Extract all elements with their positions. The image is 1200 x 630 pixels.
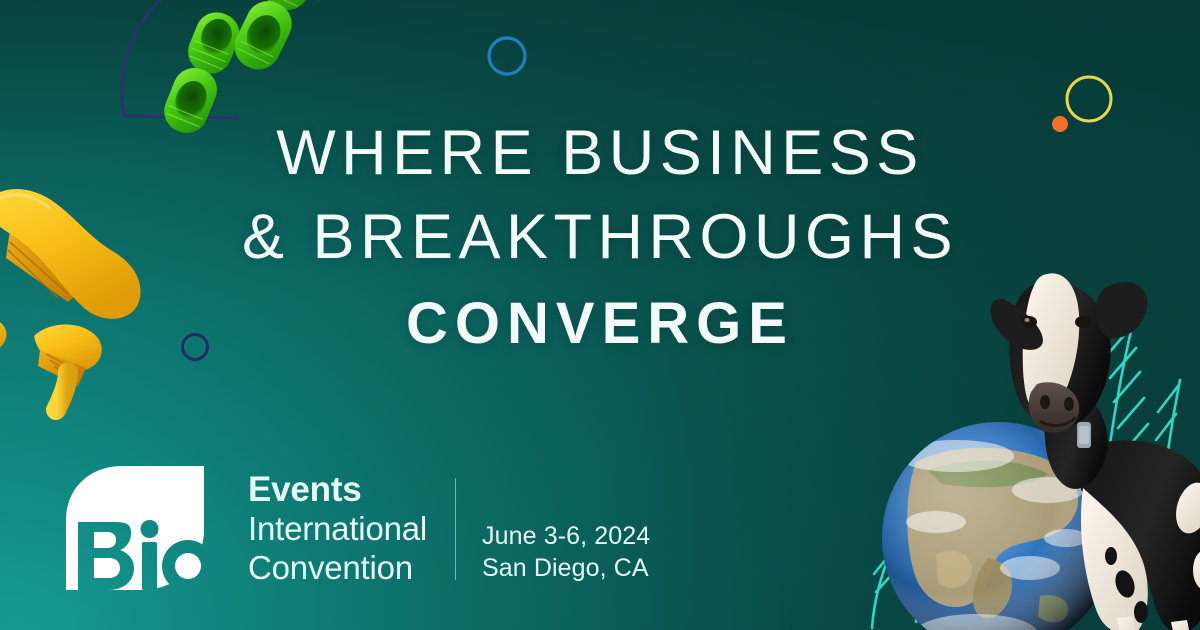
event-details: June 3-6, 2024 San Diego, CA (482, 520, 650, 584)
orange-dot-icon (1050, 114, 1070, 134)
brand-lockup: Events International Convention June 3-6… (64, 464, 650, 592)
blue-circle-outline-icon (485, 34, 529, 78)
yellow-circle-outline-icon (1062, 72, 1116, 126)
bio-leaf-logo[interactable] (64, 464, 232, 592)
yellow-mushrooms-image (0, 180, 190, 390)
event-banner: WHERE BUSINESS & BREAKTHROUGHS CONVERGE (0, 0, 1200, 630)
events-wordmark: Events International Convention (248, 470, 427, 590)
lockup-divider (455, 478, 456, 580)
event-location: San Diego, CA (482, 552, 650, 584)
event-dates: June 3-6, 2024 (482, 520, 650, 552)
wordmark-international: International (248, 510, 427, 549)
wordmark-events: Events (248, 470, 427, 511)
holstein-cow-image (985, 240, 1200, 630)
wordmark-convention: Convention (248, 549, 427, 588)
green-bacteria-image (165, 0, 395, 138)
